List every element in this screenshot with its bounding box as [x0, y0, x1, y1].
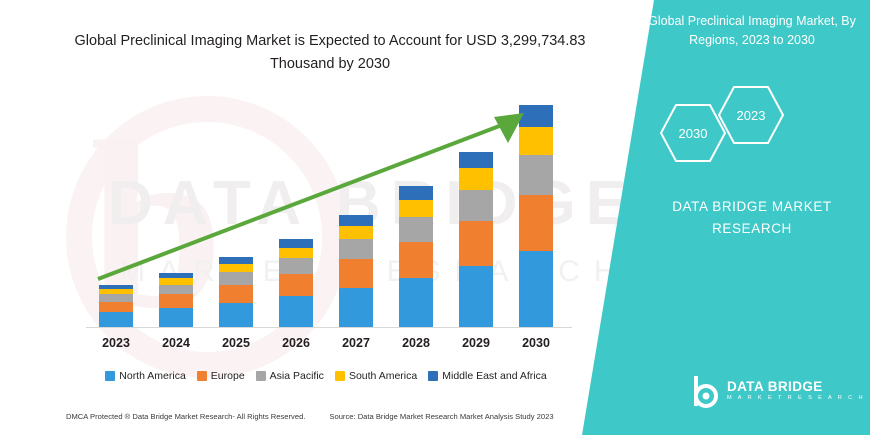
chart-legend: North AmericaEuropeAsia PacificSouth Ame… [76, 370, 576, 382]
brand-text: DATA BRIDGE MARKET RESEARCH [638, 196, 866, 240]
legend-item: South America [335, 370, 417, 382]
hex-badge-2030: 2030 [660, 104, 726, 162]
brand-line-1: DATA BRIDGE MARKET [638, 196, 866, 218]
dbmr-logo-subtitle: M A R K E T R E S E A R C H [727, 396, 865, 402]
legend-item: Europe [197, 370, 245, 382]
x-label-2024: 2024 [146, 336, 206, 350]
chart-title: Global Preclinical Imaging Market is Exp… [60, 30, 600, 76]
legend-label: Asia Pacific [270, 370, 324, 382]
legend-label: North America [119, 370, 186, 382]
bar-segment [159, 308, 193, 327]
legend-swatch [428, 371, 438, 381]
legend-label: Europe [211, 370, 245, 382]
bar-segment [99, 294, 133, 301]
growth-trend-arrow-icon [80, 95, 550, 295]
x-label-2030: 2030 [506, 336, 566, 350]
hex-badges: 2030 2023 [642, 86, 862, 162]
hex-badge-2030-label: 2030 [679, 126, 708, 141]
dbmr-logo-icon [690, 374, 720, 408]
dbmr-logo-title: DATA BRIDGE [727, 380, 865, 394]
side-panel-title: Global Preclinical Imaging Market, By Re… [646, 12, 858, 50]
bar-segment [99, 302, 133, 313]
x-axis-tick-labels: 20232024202520262027202820292030 [86, 336, 566, 358]
footer-copyright: DMCA Protected ® Data Bridge Market Rese… [66, 412, 305, 421]
legend-swatch [197, 371, 207, 381]
bar-segment [279, 296, 313, 327]
legend-label: South America [349, 370, 417, 382]
x-label-2029: 2029 [446, 336, 506, 350]
infographic-root: b DATA BRIDGE MARKET RESEARCH Global Pre… [0, 0, 870, 435]
legend-swatch [105, 371, 115, 381]
x-label-2025: 2025 [206, 336, 266, 350]
x-label-2026: 2026 [266, 336, 326, 350]
side-panel: Global Preclinical Imaging Market, By Re… [582, 0, 870, 435]
footer-source: Source: Data Bridge Market Research Mark… [329, 412, 553, 421]
x-label-2023: 2023 [86, 336, 146, 350]
x-label-2028: 2028 [386, 336, 446, 350]
legend-label: Middle East and Africa [442, 370, 546, 382]
x-label-2027: 2027 [326, 336, 386, 350]
bar-segment [219, 303, 253, 327]
hex-badge-2023: 2023 [718, 86, 784, 144]
brand-line-2: RESEARCH [638, 218, 866, 240]
x-axis-line [86, 327, 572, 328]
bar-segment [159, 294, 193, 308]
legend-item: Middle East and Africa [428, 370, 546, 382]
legend-swatch [256, 371, 266, 381]
legend-item: Asia Pacific [256, 370, 324, 382]
bar-segment [99, 312, 133, 327]
hex-badge-2023-label: 2023 [737, 108, 766, 123]
dbmr-logo: DATA BRIDGE M A R K E T R E S E A R C H [690, 368, 870, 414]
legend-swatch [335, 371, 345, 381]
legend-item: North America [105, 370, 186, 382]
